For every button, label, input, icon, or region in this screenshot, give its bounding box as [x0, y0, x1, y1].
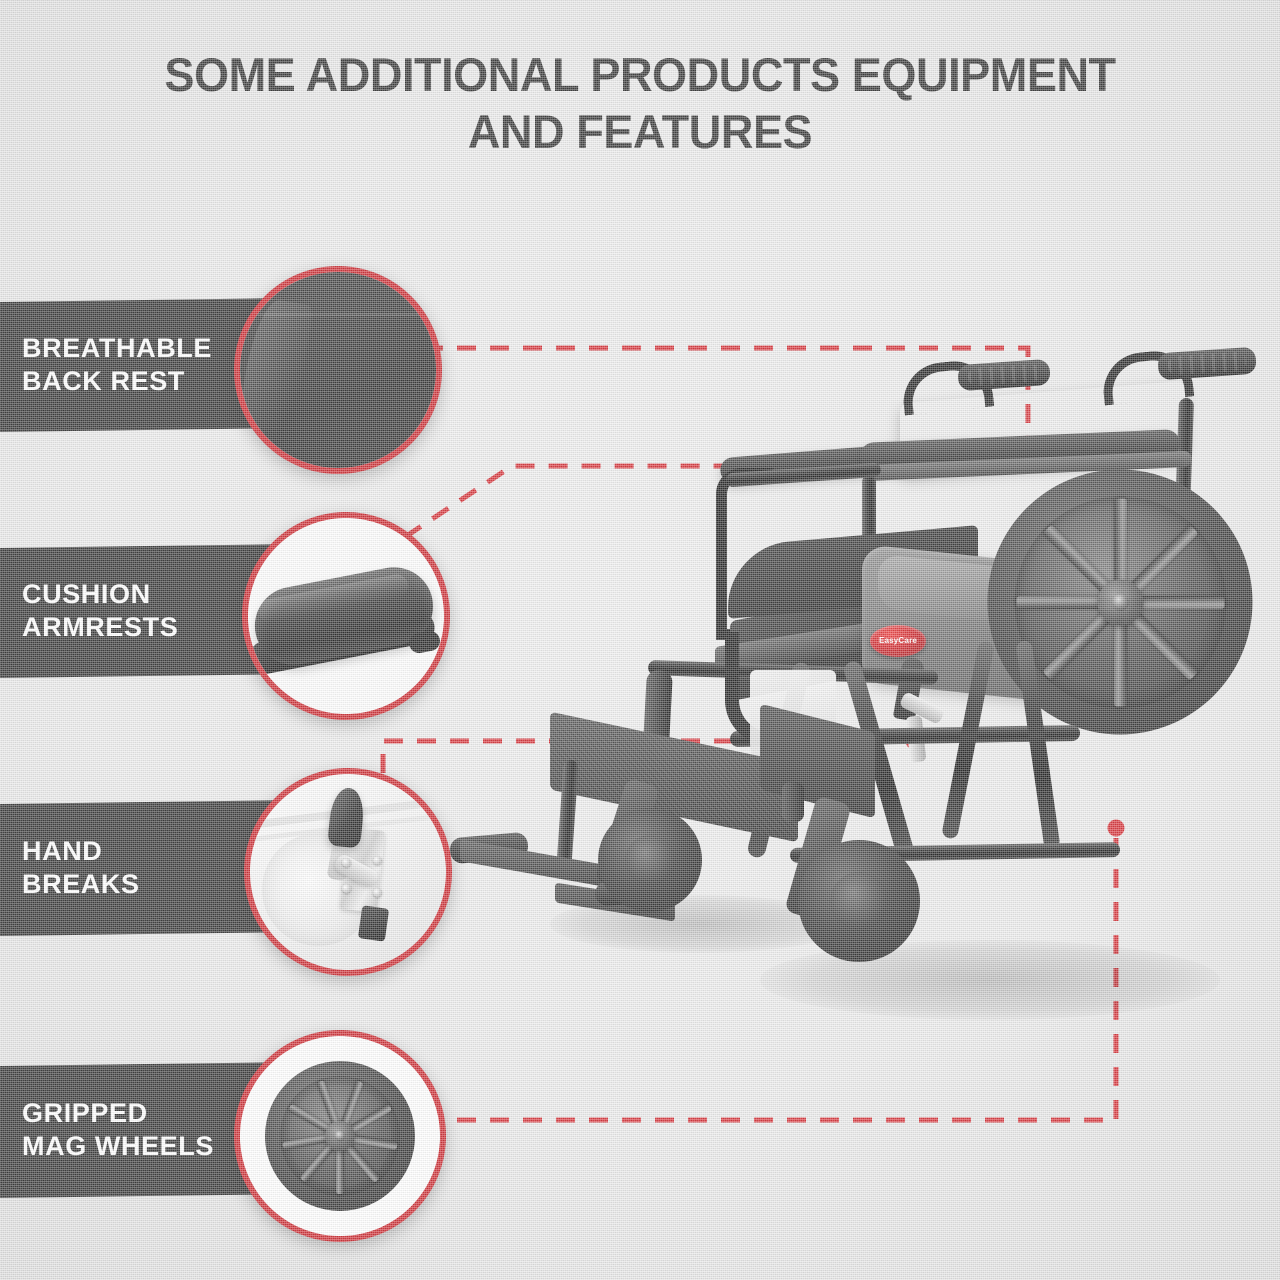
callout-thumb-3[interactable]	[244, 768, 452, 976]
push-handle-right-grip	[1157, 347, 1257, 381]
product-image-wheelchair: EasyCare	[430, 340, 1260, 1100]
callout-label-4: GRIPPED MAG WHEELS	[0, 1097, 214, 1163]
page-title-line-1: SOME ADDITIONAL PRODUCTS EQUIPMENT	[26, 46, 1255, 103]
page-title-line-2: AND FEATURES	[26, 103, 1255, 160]
rear-wheel-hub-cap	[1112, 594, 1129, 611]
front-caster-left	[598, 808, 702, 912]
push-handle-left-grip	[957, 359, 1051, 391]
callout-label-2: CUSHION ARMRESTS	[0, 578, 178, 644]
callout-label-3: HAND BREAKS	[0, 835, 140, 901]
mag-wheel-closeup-icon	[240, 1036, 440, 1236]
callout-thumb-1[interactable]	[234, 266, 442, 474]
brand-logo-badge: EasyCare	[870, 625, 926, 657]
hand-brake-lever-closeup-icon	[250, 774, 446, 970]
front-caster-right	[798, 840, 920, 962]
footplate-left	[460, 839, 605, 887]
callout-thumb-4[interactable]	[234, 1030, 446, 1242]
backrest-mesh-closeup-icon	[240, 272, 436, 468]
callout-thumb-2[interactable]	[242, 512, 450, 720]
armrest-pad-closeup-icon	[248, 518, 444, 714]
page-title: SOME ADDITIONAL PRODUCTS EQUIPMENT AND F…	[26, 46, 1255, 161]
callout-label-1: BREATHABLE BACK REST	[0, 332, 212, 398]
caster-stem-right	[782, 782, 804, 822]
infographic-canvas: SOME ADDITIONAL PRODUCTS EQUIPMENT AND F…	[0, 0, 1280, 1280]
brand-logo-text: EasyCare	[879, 637, 917, 645]
